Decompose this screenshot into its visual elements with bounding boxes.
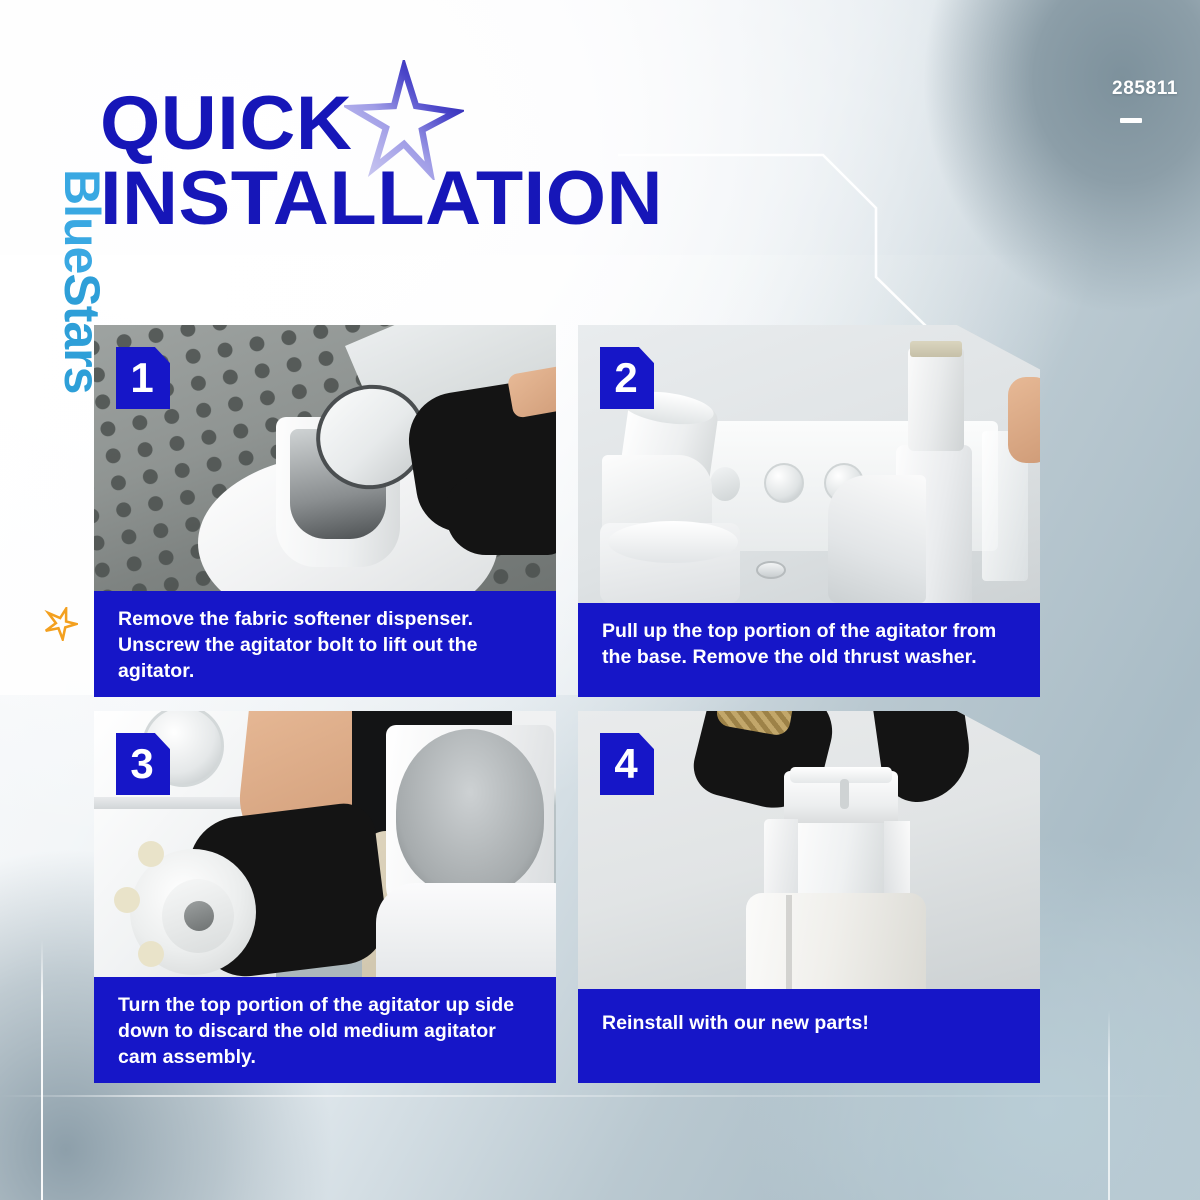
cam-dog-ear-1: [138, 841, 164, 867]
orange-sparkle-star-icon: [44, 607, 78, 641]
page-title-line2: INSTALLATION: [100, 161, 663, 236]
step-caption-3: Turn the top portion of the agitator up …: [94, 977, 556, 1083]
step-caption-4: Reinstall with our new parts!: [578, 989, 1040, 1083]
agitator-base-body: [746, 893, 926, 989]
step-panel-4: 4 Reinstall with our new parts!: [578, 711, 1040, 1083]
step-image-1: 1: [94, 325, 556, 591]
step-image-3: 3: [94, 711, 556, 977]
agitator-top-shaft: [796, 823, 888, 899]
agitator-shaft-cap: [910, 341, 962, 357]
agitator-shaft-top: [908, 347, 964, 451]
agitator-barrel-flare: [376, 883, 556, 977]
part-number: 285811: [1112, 78, 1178, 100]
step-panel-1: 1 Remove the fabric softener dispenser. …: [94, 325, 556, 697]
step-number-badge-1: 1: [116, 347, 170, 409]
thrust-washer: [756, 561, 786, 579]
cam-dog-ear-2: [114, 887, 140, 913]
brand-logo-text-blue: Blue: [54, 169, 110, 273]
step-image-2: 2: [578, 325, 1040, 603]
step-number-badge-4: 4: [600, 733, 654, 795]
step-image-4: 4: [578, 711, 1040, 989]
page-title: QUICK INSTALLATION: [100, 86, 663, 236]
page-title-line1: QUICK: [100, 81, 352, 166]
agitator-base-seam: [786, 895, 792, 989]
installation-steps-grid: 1 Remove the fabric softener dispenser. …: [94, 325, 1040, 1100]
step-panel-2: 2 Pull up the top portion of the agitato…: [578, 325, 1040, 697]
page-header: QUICK INSTALLATION: [0, 0, 1200, 300]
part-number-divider: [1120, 118, 1142, 123]
agitator-spline-left: [764, 819, 798, 897]
agitator-base-disc: [608, 521, 738, 563]
console-dial: [710, 467, 740, 501]
step-number-badge-2: 2: [600, 347, 654, 409]
cam-assembly-bore: [184, 901, 214, 931]
step-panel-3: 3 Turn the top portion of the agitator u…: [94, 711, 556, 1083]
agitator-barrel-opening: [396, 729, 544, 895]
console-knob-left: [764, 463, 804, 503]
agitator-spline-right: [884, 821, 910, 897]
step-caption-2: Pull up the top portion of the agitator …: [578, 603, 1040, 697]
agitator-vane-right: [828, 475, 926, 603]
step-number-badge-3: 3: [116, 733, 170, 795]
step-caption-1: Remove the fabric softener dispenser. Un…: [94, 591, 556, 697]
cam-dog-ear-3: [138, 941, 164, 967]
new-cam-slot: [840, 779, 849, 809]
gloved-fingers: [446, 477, 556, 555]
background-person-arm: [1008, 377, 1040, 463]
